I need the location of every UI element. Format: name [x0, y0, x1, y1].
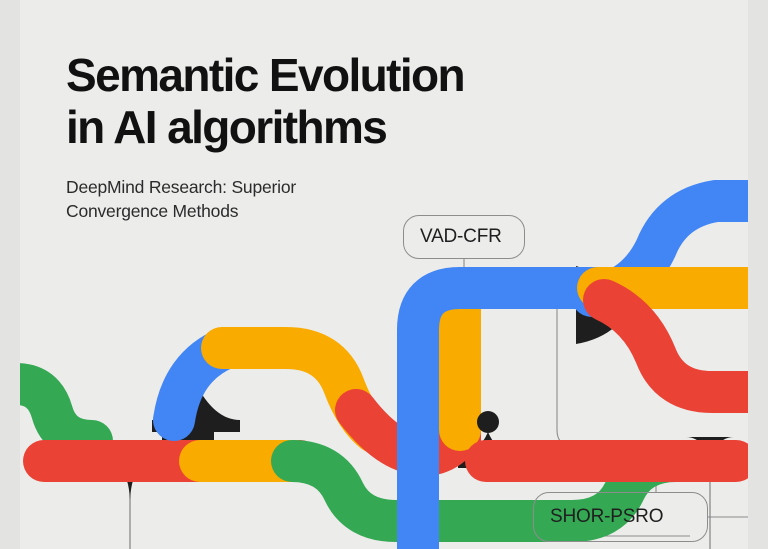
node-chip-shor-psro-label: SHOR-PSRO [550, 506, 663, 528]
node-chip-vad-cfr[interactable]: VAD-CFR [403, 215, 525, 259]
poster-canvas: Semantic Evolution in AI algorithms Deep… [0, 0, 768, 549]
page-title: Semantic Evolution in AI algorithms [66, 50, 626, 153]
node-chip-vad-cfr-label: VAD-CFR [420, 226, 502, 248]
node-chip-shor-psro[interactable]: SHOR-PSRO [533, 492, 708, 542]
page-subtitle: DeepMind Research: Superior Convergence … [66, 176, 406, 223]
